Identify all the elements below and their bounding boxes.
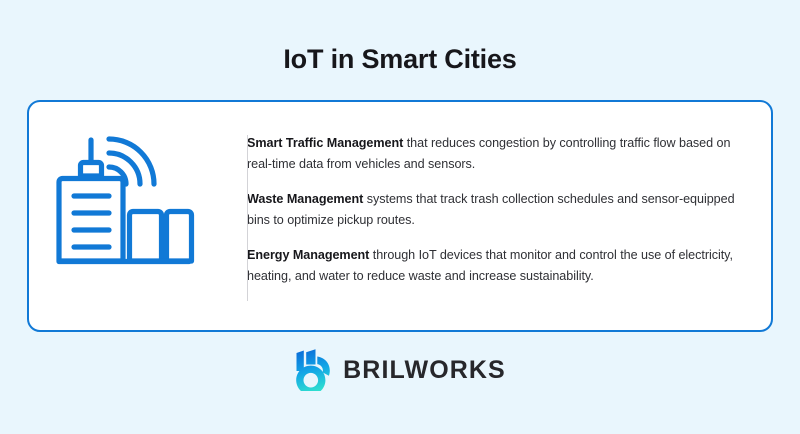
feature-heading-smart-traffic: Smart Traffic Management xyxy=(247,136,403,150)
content-card: Smart Traffic Management that reduces co… xyxy=(27,100,773,332)
brilworks-logo-text: BRILWORKS xyxy=(343,358,506,383)
feature-item-waste: Waste Management systems that track tras… xyxy=(247,189,743,231)
footer-logo: BRILWORKS xyxy=(0,349,800,391)
icon-area xyxy=(29,102,219,330)
page-root: IoT in Smart Cities xyxy=(0,0,800,434)
feature-list: Smart Traffic Management that reduces co… xyxy=(219,102,771,287)
page-title: IoT in Smart Cities xyxy=(0,42,800,76)
feature-heading-energy: Energy Management xyxy=(247,248,369,262)
brilworks-b-logo-icon xyxy=(294,349,332,391)
vertical-divider xyxy=(247,135,248,301)
feature-item-smart-traffic: Smart Traffic Management that reduces co… xyxy=(247,133,743,175)
feature-heading-waste: Waste Management xyxy=(247,192,363,206)
smart-city-building-wifi-icon xyxy=(53,130,195,275)
feature-item-energy: Energy Management through IoT devices th… xyxy=(247,245,743,287)
